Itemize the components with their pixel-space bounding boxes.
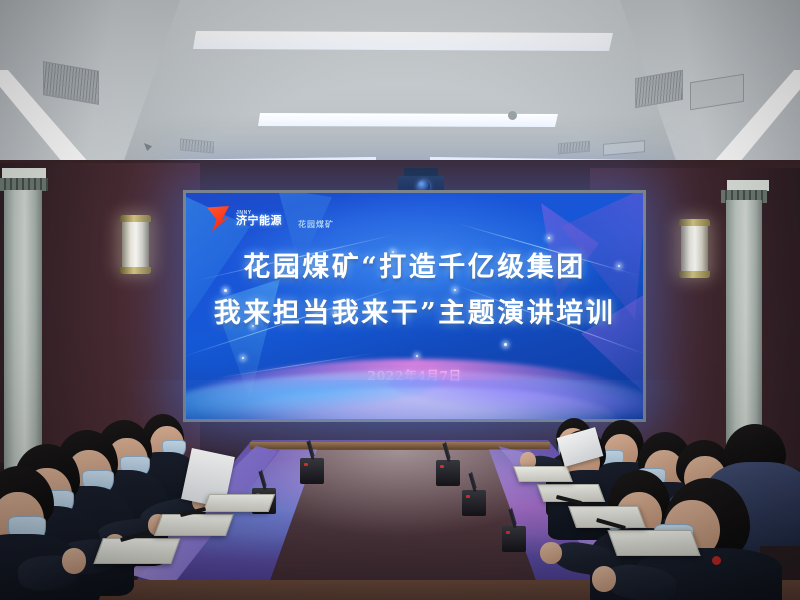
- sparkle-particle: [548, 237, 550, 239]
- screen-headline: 花园煤矿“打造千亿级集团 我来担当我来干”主题演讲培训: [186, 245, 643, 338]
- screen-light-ribbons: [186, 341, 643, 419]
- led-panel-light: [193, 31, 613, 51]
- conference-room-photo: JNNY 济宁能源 花园煤矿 花园煤矿“打造千亿级集团 我来担当我来干”主题演讲…: [0, 0, 800, 600]
- headline-line-2: 我来担当我来干”主题演讲培训: [186, 291, 643, 337]
- flame-logo-icon: [207, 206, 229, 232]
- notebook: [93, 538, 180, 564]
- notebook: [607, 530, 700, 556]
- notebook: [513, 466, 573, 482]
- led-screen: JNNY 济宁能源 花园煤矿 花园煤矿“打造千亿级集团 我来担当我来干”主题演讲…: [186, 193, 643, 419]
- logo-company-name: 济宁能源: [236, 216, 282, 227]
- ceiling-plane: [120, 0, 680, 160]
- conference-microphone: [502, 526, 526, 552]
- notebook: [203, 494, 276, 512]
- smoke-detector-icon: [508, 111, 517, 120]
- logo-sub-name: 花园煤矿: [298, 219, 334, 230]
- conference-microphone: [436, 460, 460, 486]
- uniform-badge: [712, 556, 721, 565]
- wall-sconce-left: [122, 218, 149, 271]
- ceiling: [0, 0, 800, 172]
- conference-microphone: [300, 458, 324, 484]
- led-screen-frame: JNNY 济宁能源 花园煤矿 花园煤矿“打造千亿级集团 我来担当我来干”主题演讲…: [183, 190, 646, 422]
- headline-line-1: 花园煤矿“打造千亿级集团: [186, 245, 643, 291]
- notebook: [154, 514, 234, 536]
- conference-microphone: [462, 490, 486, 516]
- screen-brand-logo: JNNY 济宁能源 花园煤矿: [207, 206, 334, 232]
- wall-sconce-right: [681, 222, 708, 275]
